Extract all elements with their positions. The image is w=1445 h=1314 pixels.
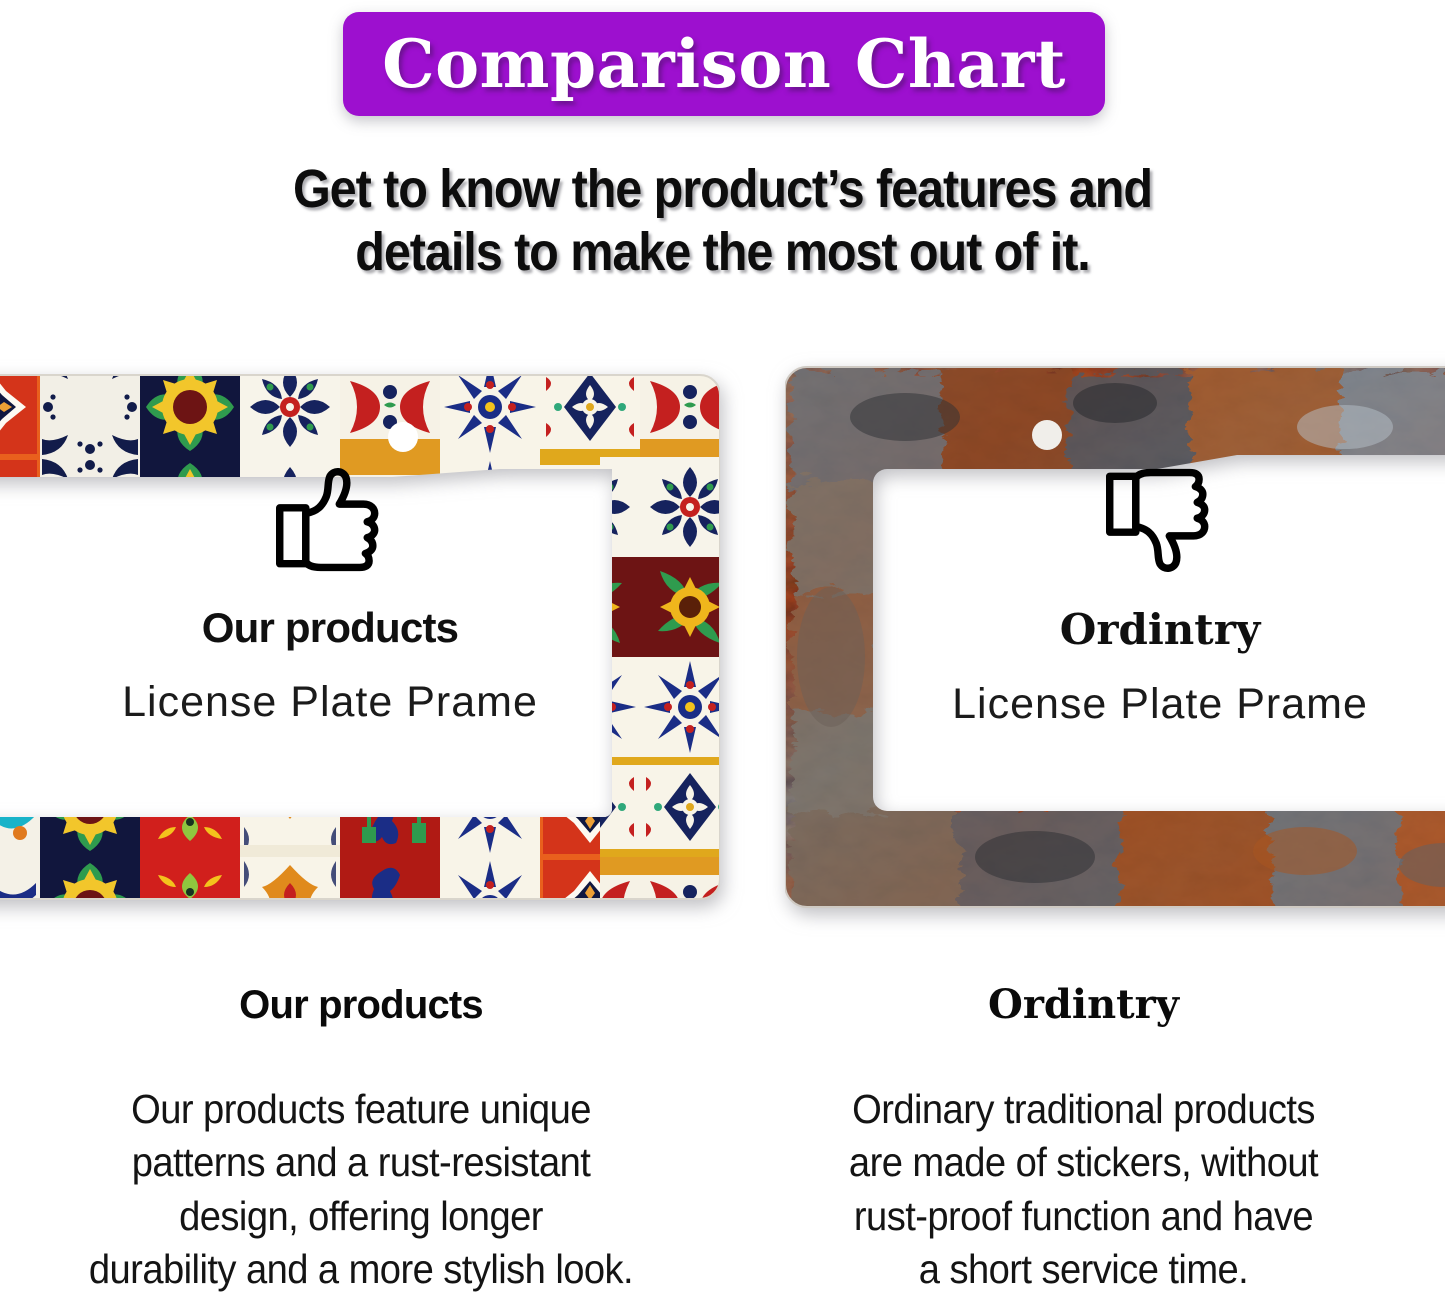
subtitle-line-1: Get to know the product’s features and [72,158,1373,221]
our-product-description-column: Our products Our products feature unique… [0,985,722,1296]
ordinary-product-description-body: Ordinary traditional products are made o… [747,1083,1419,1296]
description-line: durability and a more stylish look. [25,1243,696,1296]
description-line: patterns and a rust-resistant [25,1136,696,1189]
description-line: design, offering longer [25,1190,696,1243]
subtitle-line-2: details to make the most out of it. [72,221,1373,284]
mounting-hole [388,422,418,452]
subtitle: Get to know the product’s features and d… [72,158,1373,283]
page-title: Comparison Chart [382,31,1066,97]
our-product-panel: Our products License Plate Prame [0,345,720,930]
ordinary-product-description-column: Ordintry Ordinary traditional products a… [722,985,1445,1296]
our-product-description-body: Our products feature unique patterns and… [25,1083,696,1296]
ordinary-product-description-heading: Ordintry [722,985,1445,1025]
description-line: Ordinary traditional products [747,1083,1419,1136]
ordinary-product-panel: Ordintry License Plate Prame [785,345,1445,930]
header-section: Comparison Chart Get to know the product… [0,0,1445,300]
title-banner: Comparison Chart [343,12,1105,116]
our-product-description-heading: Our products [0,985,722,1025]
description-line: rust-proof function and have [747,1190,1419,1243]
description-line: a short service time. [747,1243,1419,1296]
talavera-license-plate-frame-image [0,357,720,917]
description-line: are made of stickers, without [747,1136,1419,1189]
product-showcase-row: Our products License Plate Prame [0,345,1445,930]
description-row: Our products Our products feature unique… [0,985,1445,1314]
mounting-hole [1032,420,1062,450]
rusted-license-plate-frame-image [785,357,1445,917]
description-line: Our products feature unique [25,1083,696,1136]
